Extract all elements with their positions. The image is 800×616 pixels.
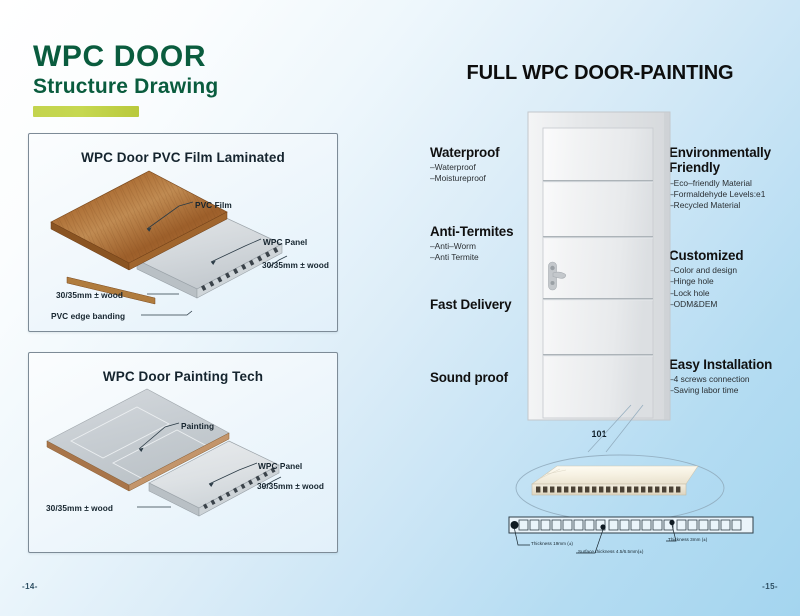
panel-pvc-film-laminated: WPC Door PVC Film Laminated bbox=[28, 133, 338, 332]
accent-bar bbox=[33, 106, 139, 117]
hollow-core-panel bbox=[532, 466, 698, 495]
label-wood-left: 30/35mm ± wood bbox=[56, 290, 123, 300]
panel-callout-drawing bbox=[400, 0, 800, 616]
panel-painting-tech: WPC Door Painting Tech bbox=[28, 352, 338, 553]
label-thickness-19: Thickness 19mm (±) bbox=[531, 541, 573, 546]
label-wood-right-2: 30/35mm ± wood bbox=[257, 481, 324, 491]
label-wood-right: 30/35mm ± wood bbox=[262, 260, 329, 270]
page-title: WPC DOOR bbox=[33, 42, 206, 72]
label-thickness-3: Thickness 3mm (±) bbox=[668, 537, 707, 542]
brochure-page: WPC DOOR Structure Drawing WPC Door PVC … bbox=[0, 0, 800, 616]
page-subtitle: Structure Drawing bbox=[33, 76, 218, 97]
panel-1-drawing bbox=[29, 134, 337, 331]
label-pvc-film: PVC Film bbox=[195, 200, 232, 210]
label-wpc-panel-2: WPC Panel bbox=[258, 461, 302, 471]
panel-2-drawing bbox=[29, 353, 337, 552]
left-page: WPC DOOR Structure Drawing WPC Door PVC … bbox=[0, 0, 400, 616]
page-number-left: -14- bbox=[22, 582, 38, 591]
label-wpc-panel: WPC Panel bbox=[263, 237, 307, 247]
label-wood-left-2: 30/35mm ± wood bbox=[46, 503, 113, 513]
label-pvc-edge-banding: PVC edge banding bbox=[51, 311, 125, 321]
cross-section-strip bbox=[509, 517, 753, 553]
label-surface-thickness: Surface thickness 4.5/6.5mm(±) bbox=[578, 549, 643, 554]
right-page: FULL WPC DOOR-PAINTING Waterproof –Water… bbox=[400, 0, 800, 616]
label-painting: Painting bbox=[181, 421, 214, 431]
page-number-right: -15- bbox=[762, 582, 778, 591]
